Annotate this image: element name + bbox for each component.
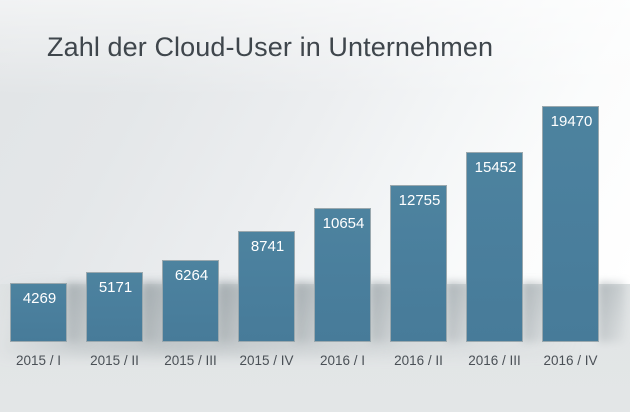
bar: 15452 bbox=[466, 152, 523, 342]
bar-group: 19470 bbox=[542, 106, 599, 342]
bar: 10654 bbox=[314, 208, 371, 342]
bar-value-label: 8741 bbox=[239, 238, 296, 256]
bar-drop-shadow bbox=[599, 282, 625, 342]
bar-group: 12755 bbox=[390, 185, 447, 342]
bar-value-label: 5171 bbox=[87, 279, 144, 297]
plot-area: 42692015 / I51712015 / II62642015 / III8… bbox=[0, 0, 630, 412]
bar: 19470 bbox=[542, 106, 599, 342]
bar-group: 6264 bbox=[162, 260, 219, 342]
category-label: 2016 / IV bbox=[526, 352, 616, 370]
bar-value-label: 19470 bbox=[543, 113, 600, 131]
bar-value-label: 6264 bbox=[163, 267, 220, 285]
bar: 12755 bbox=[390, 185, 447, 342]
bar: 6264 bbox=[162, 260, 219, 342]
bar: 5171 bbox=[86, 272, 143, 342]
bar-group: 15452 bbox=[466, 152, 523, 342]
bar-value-label: 4269 bbox=[11, 290, 68, 308]
bar-group: 4269 bbox=[10, 283, 67, 342]
bar-value-label: 15452 bbox=[467, 159, 524, 177]
bar: 8741 bbox=[238, 231, 295, 342]
bar-group: 5171 bbox=[86, 272, 143, 342]
bar-group: 8741 bbox=[238, 231, 295, 342]
bar-chart-image: Zahl der Cloud-User in Unternehmen 42692… bbox=[0, 0, 630, 412]
bar-value-label: 10654 bbox=[315, 215, 372, 233]
bar: 4269 bbox=[10, 283, 67, 342]
bar-group: 10654 bbox=[314, 208, 371, 342]
bar-value-label: 12755 bbox=[391, 192, 448, 210]
